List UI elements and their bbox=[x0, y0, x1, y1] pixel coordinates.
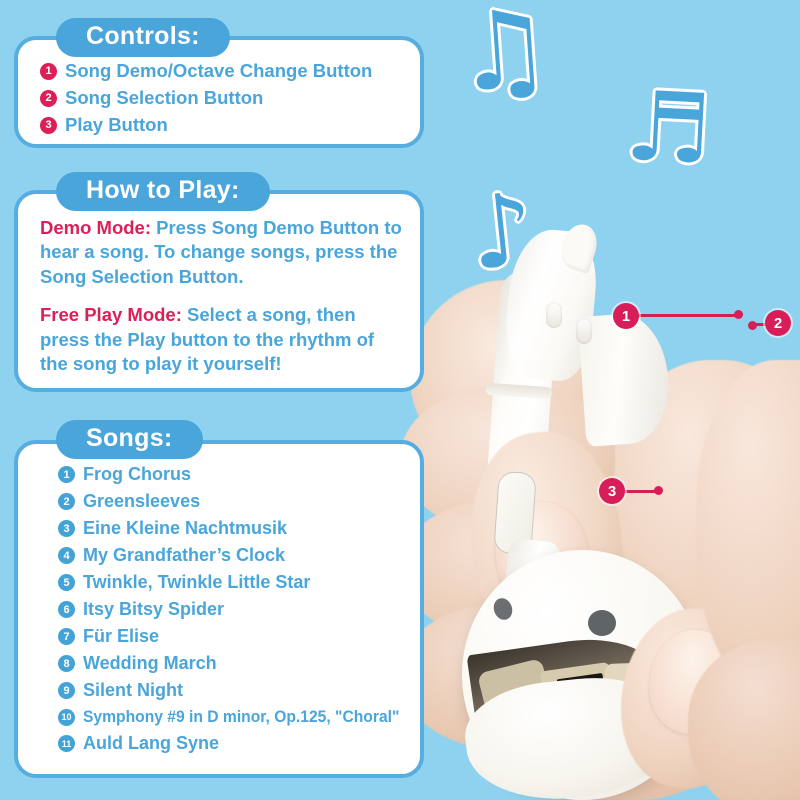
control-number-badge: 2 bbox=[40, 90, 57, 107]
beamed-sixteenth-notes-icon: ♬ bbox=[623, 78, 714, 178]
song-number-badge: 3 bbox=[58, 520, 75, 537]
song-number-badge: 11 bbox=[58, 735, 75, 752]
song-number-badge: 7 bbox=[58, 628, 75, 645]
eye-right bbox=[588, 610, 616, 636]
song-title: Auld Lang Syne bbox=[83, 733, 219, 754]
callout-badge-2: 2 bbox=[765, 310, 791, 336]
callout-dot-2 bbox=[748, 321, 757, 330]
song-item: 6 Itsy Bitsy Spider bbox=[58, 599, 404, 620]
control-label: Song Selection Button bbox=[65, 87, 263, 109]
song-title: Symphony #9 in D minor, Op.125, "Choral" bbox=[83, 707, 399, 727]
beamed-eighth-notes-icon: ♫ bbox=[451, 0, 555, 109]
free-play-mode-label: Free Play Mode: bbox=[40, 304, 182, 325]
control-item: 1 Song Demo/Octave Change Button bbox=[40, 60, 404, 82]
callout-badge-1: 1 bbox=[613, 303, 639, 329]
control-label: Play Button bbox=[65, 114, 168, 136]
song-item: 1 Frog Chorus bbox=[58, 464, 404, 485]
song-demo-octave-change-button[interactable] bbox=[546, 302, 562, 328]
control-number-badge: 3 bbox=[40, 117, 57, 134]
song-title: Greensleeves bbox=[83, 491, 200, 512]
song-number-badge: 8 bbox=[58, 655, 75, 672]
song-number-badge: 5 bbox=[58, 574, 75, 591]
song-number-badge: 9 bbox=[58, 682, 75, 699]
controls-heading: Controls: bbox=[56, 18, 230, 57]
demo-mode-label: Demo Mode: bbox=[40, 217, 151, 238]
song-title: Eine Kleine Nachtmusik bbox=[83, 518, 287, 539]
control-number-badge: 1 bbox=[40, 63, 57, 80]
song-title: Itsy Bitsy Spider bbox=[83, 599, 224, 620]
eighth-note-icon: ♪ bbox=[465, 179, 539, 285]
control-item: 3 Play Button bbox=[40, 114, 404, 136]
song-number-badge: 2 bbox=[58, 493, 75, 510]
callout-line-1 bbox=[636, 314, 740, 317]
demo-mode-paragraph: Demo Mode: Press Song Demo Button to hea… bbox=[40, 216, 404, 289]
song-number-badge: 1 bbox=[58, 466, 75, 483]
free-play-mode-paragraph: Free Play Mode: Select a song, then pres… bbox=[40, 303, 404, 376]
song-number-badge: 4 bbox=[58, 547, 75, 564]
song-item: 8 Wedding March bbox=[58, 653, 404, 674]
song-item: 11 Auld Lang Syne bbox=[58, 733, 404, 754]
song-title: Frog Chorus bbox=[83, 464, 191, 485]
song-item: 4 My Grandfather’s Clock bbox=[58, 545, 404, 566]
song-title: Silent Night bbox=[83, 680, 183, 701]
songs-card: 1 Frog Chorus 2 Greensleeves 3 Eine Klei… bbox=[14, 440, 424, 778]
product-photo: 1 2 3 bbox=[400, 210, 800, 800]
song-item: 5 Twinkle, Twinkle Little Star bbox=[58, 572, 404, 593]
song-title: Für Elise bbox=[83, 626, 159, 647]
song-item: 9 Silent Night bbox=[58, 680, 404, 701]
song-number-badge: 10 bbox=[58, 709, 75, 726]
control-label: Song Demo/Octave Change Button bbox=[65, 60, 372, 82]
song-title: Wedding March bbox=[83, 653, 217, 674]
song-title: Twinkle, Twinkle Little Star bbox=[83, 572, 310, 593]
song-item: 10 Symphony #9 in D minor, Op.125, "Chor… bbox=[58, 707, 404, 727]
song-item: 7 Für Elise bbox=[58, 626, 404, 647]
how-to-play-card: Demo Mode: Press Song Demo Button to hea… bbox=[14, 190, 424, 392]
song-item: 2 Greensleeves bbox=[58, 491, 404, 512]
callout-badge-3: 3 bbox=[599, 478, 625, 504]
how-to-play-heading: How to Play: bbox=[56, 172, 270, 211]
control-item: 2 Song Selection Button bbox=[40, 87, 404, 109]
song-title: My Grandfather’s Clock bbox=[83, 545, 285, 566]
songs-heading: Songs: bbox=[56, 420, 203, 459]
callout-dot-3 bbox=[654, 486, 663, 495]
song-number-badge: 6 bbox=[58, 601, 75, 618]
callout-dot-1 bbox=[734, 310, 743, 319]
song-item: 3 Eine Kleine Nachtmusik bbox=[58, 518, 404, 539]
product-instruction-panel: 1 2 3 ♫ ♬ ♪ 1 Song Demo/Octave Change Bu… bbox=[0, 0, 800, 800]
song-selection-button[interactable] bbox=[576, 318, 592, 344]
